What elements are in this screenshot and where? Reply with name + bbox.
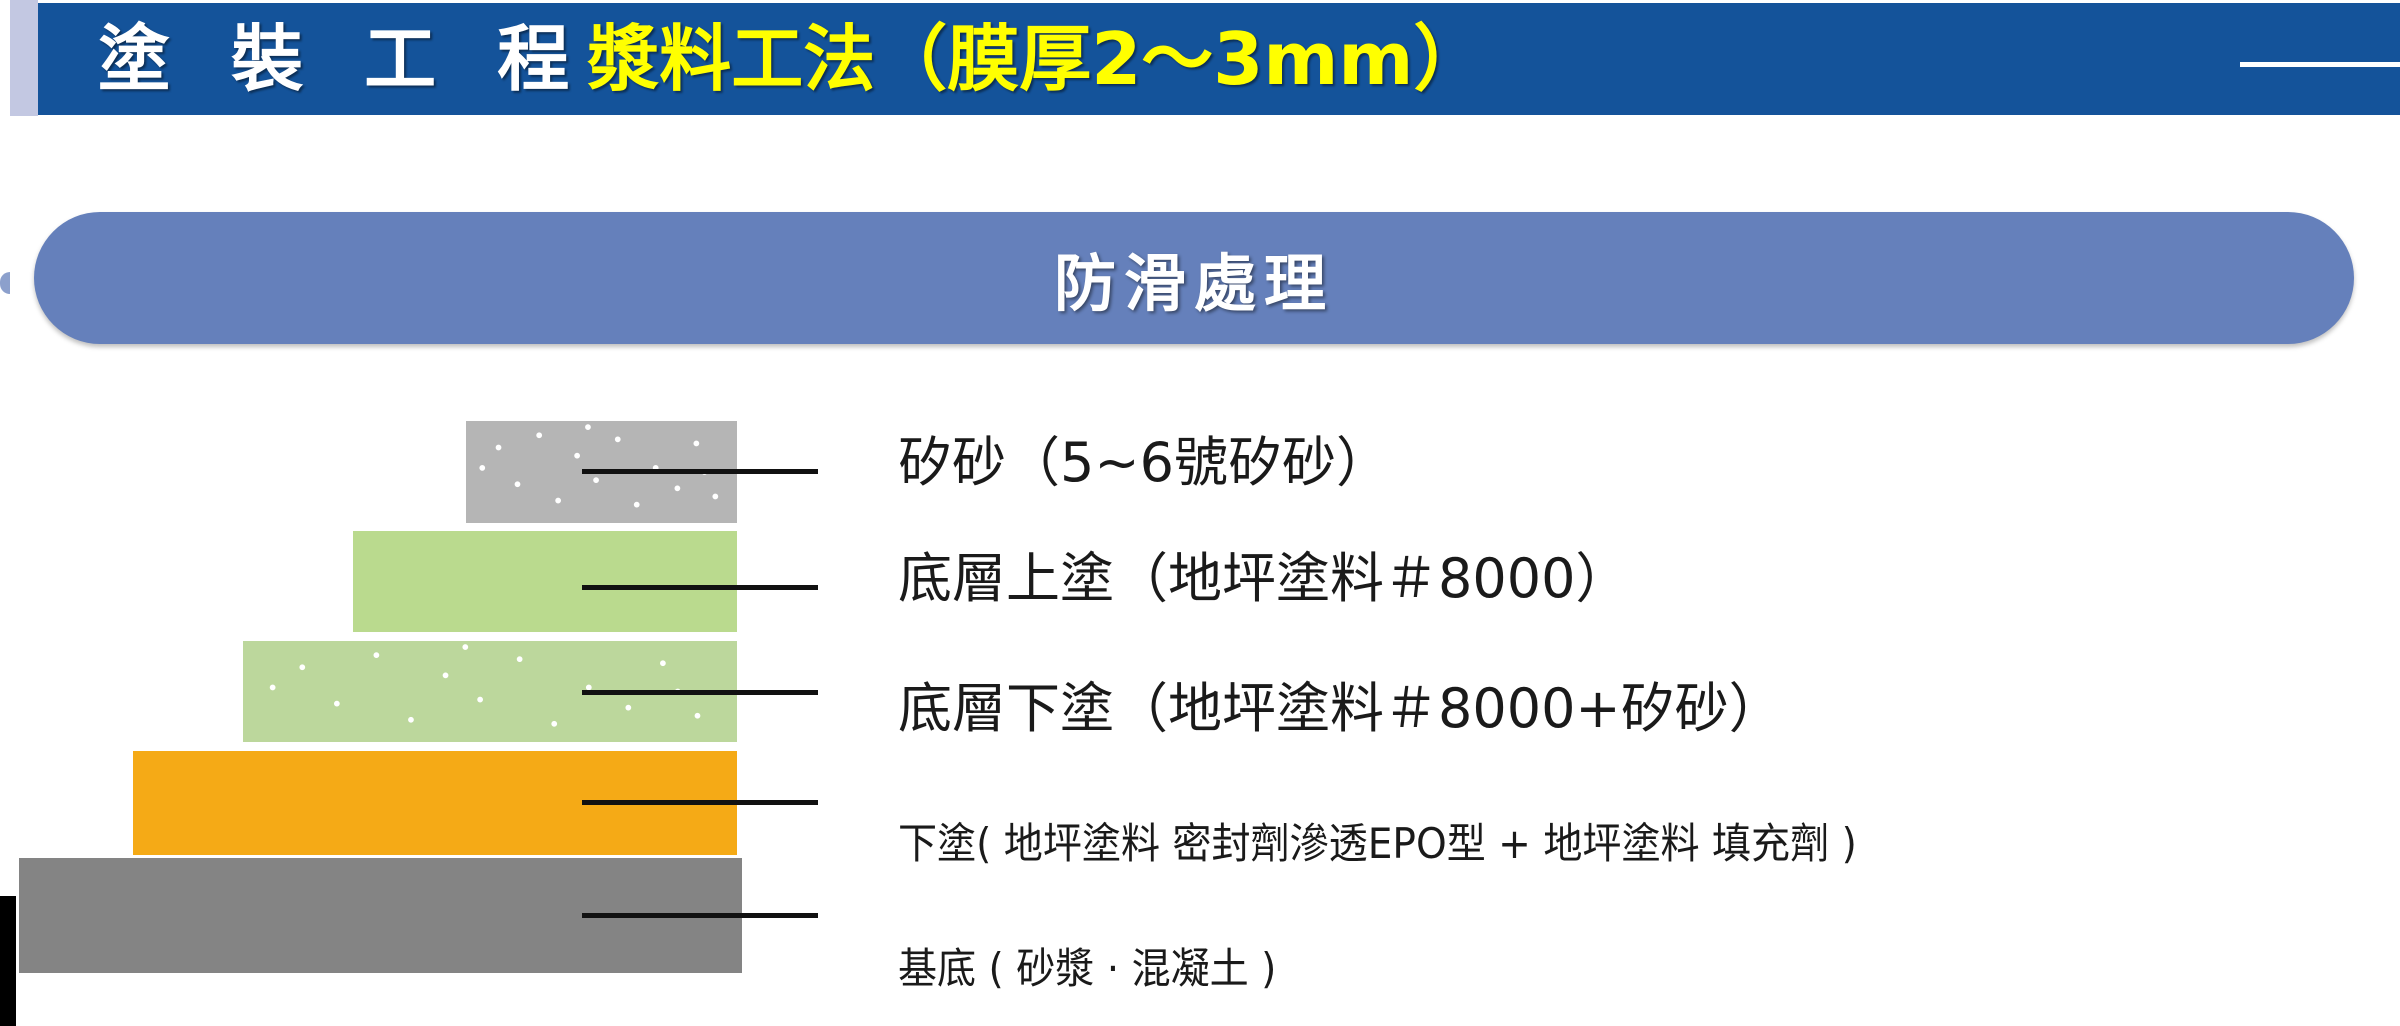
leader-line-base-coat-top [582, 585, 818, 590]
label-base-coat-top: 底層上塗（地坪塗料＃8000） [898, 552, 1629, 606]
label-primer: 下塗( 地坪塗料 密封劑滲透EPO型 + 地坪塗料 填充劑 ) [898, 823, 1857, 865]
horizontal-rule-icon [2240, 62, 2400, 67]
black-corner-block [0, 896, 16, 1026]
layer-base-coat-top [353, 531, 737, 632]
leader-line-silica-sand [582, 469, 818, 474]
label-substrate: 基底 ( 砂漿 · 混凝土 ) [898, 948, 1276, 990]
label-silica-sand: 矽砂（5~6號矽砂） [898, 436, 1390, 490]
leader-line-base-coat-bottom [582, 690, 818, 695]
leader-line-primer [582, 800, 818, 805]
coating-layer-stack-diagram [0, 0, 900, 1026]
leader-line-substrate [582, 913, 818, 918]
label-base-coat-bottom: 底層下塗（地坪塗料＃8000+矽砂） [898, 682, 1783, 736]
